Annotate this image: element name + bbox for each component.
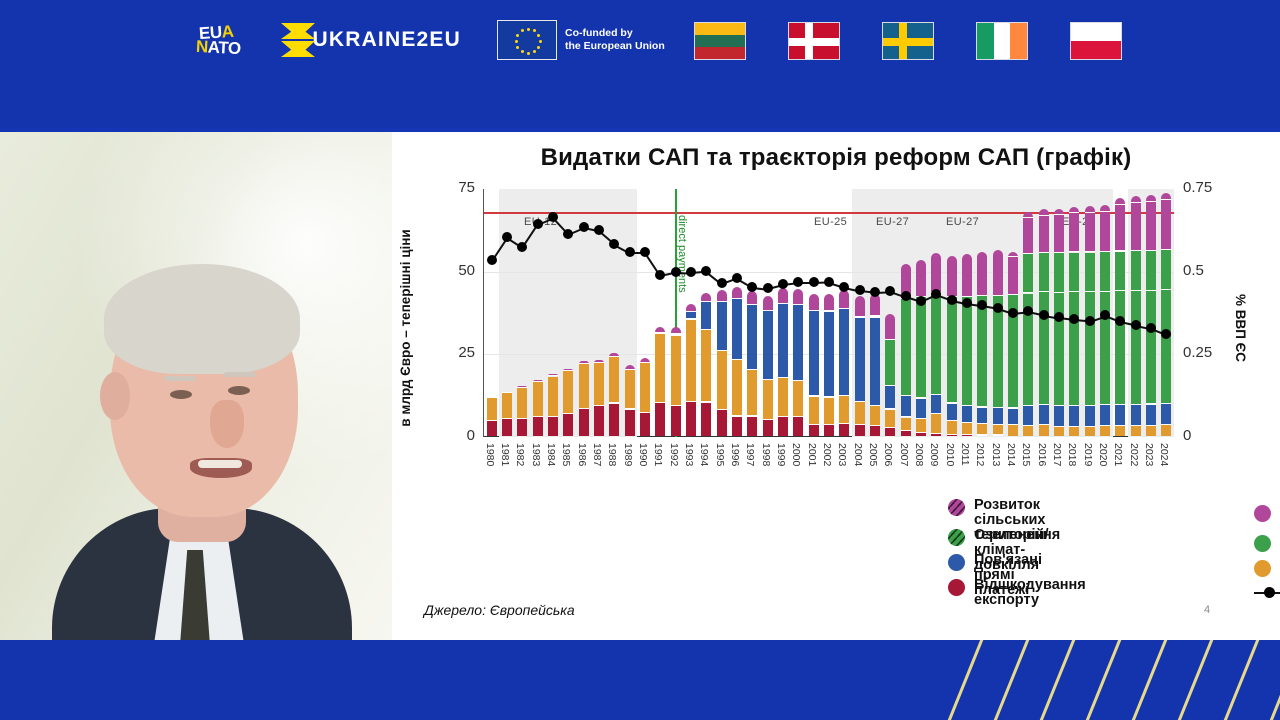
bar-segment (977, 408, 987, 425)
trajectory-point (1146, 323, 1156, 333)
chart-bar (1161, 193, 1171, 436)
speaker-video-feed[interactable] (0, 132, 392, 640)
bar-segment (1008, 425, 1018, 436)
bar-separator (671, 333, 681, 334)
bar-separator (885, 385, 895, 386)
trajectory-point (901, 291, 911, 301)
trajectory-point (1039, 310, 1049, 320)
trajectory-point (809, 277, 819, 287)
bar-separator (977, 434, 987, 435)
bar-segment (1100, 405, 1110, 426)
bar-segment (1069, 253, 1079, 293)
bar-separator (563, 370, 573, 371)
partner-flag-row (694, 22, 1122, 60)
bar-separator (931, 433, 941, 434)
bar-segment (778, 378, 788, 418)
bar-segment (793, 289, 803, 305)
bar-separator (502, 418, 512, 419)
chart-bar (931, 253, 941, 436)
bar-separator (1100, 291, 1110, 292)
bar-segment (655, 334, 665, 403)
trajectory-point (793, 277, 803, 287)
trajectory-point (747, 282, 757, 292)
trajectory-point (993, 303, 1003, 313)
bar-separator (824, 424, 834, 425)
bar-segment (1146, 405, 1156, 426)
bar-separator (1115, 404, 1125, 405)
bar-separator (901, 430, 911, 431)
trajectory-point (947, 295, 957, 305)
trajectory-point (870, 287, 880, 297)
chart-bar (1100, 205, 1110, 436)
bar-separator (1085, 291, 1095, 292)
bar-separator (655, 402, 665, 403)
bar-segment (916, 399, 926, 420)
bar-segment (1131, 426, 1141, 436)
bar-segment (1146, 251, 1156, 291)
bar-separator (1115, 290, 1125, 291)
y-axis-tick-left: 25 (429, 344, 475, 361)
bar-segment (1100, 292, 1110, 405)
x-axis-tick: 1994 (698, 443, 710, 466)
presentation-slide: Видатки САП та траєкторія реформ САП (гр… (392, 132, 1280, 640)
bar-segment (1039, 405, 1049, 425)
bar-separator (870, 425, 880, 426)
bar-separator (916, 432, 926, 433)
x-axis-tick: 2011 (959, 443, 971, 466)
bar-separator (533, 416, 543, 417)
bar-separator (1146, 403, 1156, 404)
y-axis-left-label: в млрд Євро – теперішні ціни (398, 228, 413, 428)
lithuania-flag (694, 22, 746, 60)
x-axis-tick: 1981 (499, 443, 511, 466)
bar-segment (1146, 202, 1156, 251)
bar-separator (793, 304, 803, 305)
bar-separator (931, 413, 941, 414)
bar-segment (717, 351, 727, 411)
ukraine2eu-mark-icon (281, 23, 303, 57)
bar-separator (824, 396, 834, 397)
bar-segment (747, 370, 757, 416)
bar-separator (778, 377, 788, 378)
bar-separator (1023, 425, 1033, 426)
bar-segment (655, 403, 665, 436)
bar-segment (809, 311, 819, 396)
plot-area: EU-12EU-25EU-27EU-27EU-28direct payments (483, 189, 1173, 437)
bar-segment (809, 294, 819, 311)
bar-segment (977, 296, 987, 407)
trajectory-point (1085, 316, 1095, 326)
banner-logo-row: EUA NATO UKRAINE2EU Co-funded by the Eur… (0, 8, 1280, 72)
trajectory-point (563, 229, 573, 239)
bar-separator (1161, 403, 1171, 404)
bar-segment (1085, 406, 1095, 427)
bar-segment (839, 309, 849, 397)
poland-flag (1070, 22, 1122, 60)
x-axis-tick: 1999 (775, 443, 787, 466)
chart-bar (1054, 209, 1064, 436)
bar-separator (1039, 424, 1049, 425)
x-axis-tick: 2017 (1051, 443, 1063, 466)
x-axis-tick: 1984 (545, 443, 557, 466)
bar-separator (885, 427, 895, 428)
bar-separator (947, 434, 957, 435)
bar-separator (839, 423, 849, 424)
chart-bar (1008, 252, 1018, 437)
chart-bar (487, 397, 497, 436)
bar-segment (931, 253, 941, 293)
bar-segment (1039, 253, 1049, 292)
bar-separator (855, 401, 865, 402)
bar-segment (548, 377, 558, 417)
bar-separator (901, 395, 911, 396)
x-axis-tick: 2001 (806, 443, 818, 466)
bar-segment (885, 340, 895, 386)
bar-segment (855, 318, 865, 402)
chart-bar (609, 353, 619, 436)
bar-segment (916, 260, 926, 296)
x-axis-tick: 1996 (729, 443, 741, 466)
bar-segment (1115, 291, 1125, 405)
chart-bar (579, 361, 589, 436)
bar-separator (732, 359, 742, 360)
decorative-stripe (1110, 640, 1180, 720)
bar-segment (1069, 292, 1079, 406)
bar-separator (1161, 424, 1171, 425)
decorative-stripe (926, 640, 996, 720)
bar-segment (947, 256, 957, 297)
bar-separator (1039, 215, 1049, 216)
bar-segment (701, 302, 711, 329)
legend-swatch-icon (948, 529, 965, 546)
bar-segment (962, 254, 972, 297)
bar-segment (931, 293, 941, 396)
bar-separator (732, 415, 742, 416)
x-axis-tick: 1991 (652, 443, 664, 466)
trajectory-point (1131, 320, 1141, 330)
y-axis-tick-right: 0.5 (1183, 262, 1231, 279)
bar-separator (1023, 253, 1033, 254)
trajectory-point (625, 247, 635, 257)
bar-segment (1069, 406, 1079, 427)
bar-separator (594, 362, 604, 363)
bar-separator (763, 379, 773, 380)
bar-separator (870, 315, 880, 316)
bar-separator (487, 420, 497, 421)
bar-segment (563, 414, 573, 436)
bar-separator (548, 416, 558, 417)
bar-separator (701, 329, 711, 330)
x-axis-tick: 2024 (1158, 443, 1170, 466)
decorative-stripe (1156, 640, 1226, 720)
bar-segment (1115, 205, 1125, 251)
chart-bar (1023, 212, 1033, 436)
bar-separator (487, 397, 497, 398)
bar-separator (1146, 250, 1156, 251)
bar-separator (962, 296, 972, 297)
ireland-flag (976, 22, 1028, 60)
bar-separator (1131, 250, 1141, 251)
bar-segment (993, 408, 1003, 425)
bar-separator (717, 301, 727, 302)
bar-separator (732, 298, 742, 299)
bar-segment (1100, 252, 1110, 292)
legend-item[interactable]: Відшкодування експорту (948, 578, 1086, 608)
bar-segment (1085, 253, 1095, 293)
chart-bar (1131, 196, 1141, 436)
bar-separator (640, 412, 650, 413)
bar-segment (916, 297, 926, 399)
x-axis-tick: 2016 (1036, 443, 1048, 466)
bar-separator (993, 295, 1003, 296)
bar-separator (947, 420, 957, 421)
chart-bar (947, 256, 957, 436)
trajectory-point (655, 270, 665, 280)
bar-separator (1039, 404, 1049, 405)
bar-segment (1115, 405, 1125, 426)
bar-separator (839, 395, 849, 396)
bar-segment (885, 314, 895, 340)
bar-segment (640, 363, 650, 413)
bar-segment (793, 417, 803, 436)
bar-separator (1008, 424, 1018, 425)
bar-segment (1085, 292, 1095, 406)
bar-segment (1069, 213, 1079, 252)
chart-bar (763, 296, 773, 436)
bar-segment (824, 425, 834, 436)
legend-item[interactable]: Озеленення (948, 528, 1060, 546)
x-axis-tick: 2020 (1097, 443, 1109, 466)
bar-separator (1085, 251, 1095, 252)
chart-bar (839, 290, 849, 436)
bar-segment (686, 320, 696, 403)
bar-segment (839, 396, 849, 423)
bar-separator (824, 310, 834, 311)
bar-separator (1039, 291, 1049, 292)
bar-segment (870, 318, 880, 406)
bar-segment (1039, 425, 1049, 436)
y-axis-tick-left: 75 (429, 179, 475, 196)
bar-segment (1054, 253, 1064, 293)
bar-segment (1023, 218, 1033, 254)
bar-separator (517, 387, 527, 388)
bar-segment (1069, 427, 1079, 436)
bar-separator (778, 416, 788, 417)
bar-segment (747, 305, 757, 370)
chart-bar (855, 296, 865, 436)
slide-title: Видатки САП та траєкторія реформ САП (гр… (392, 144, 1280, 172)
bar-segment (763, 296, 773, 311)
bar-segment (809, 397, 819, 425)
bar-separator (747, 415, 757, 416)
trajectory-point (732, 273, 742, 283)
bar-segment (855, 402, 865, 425)
chart-bar (962, 254, 972, 436)
chart-bar (594, 360, 604, 436)
bar-segment (824, 398, 834, 425)
bar-separator (502, 392, 512, 393)
trajectory-point (609, 239, 619, 249)
bar-segment (763, 380, 773, 420)
bar-segment (517, 388, 527, 419)
x-axis-tick: 2018 (1066, 443, 1078, 466)
legend-swatch-icon (948, 554, 965, 571)
bar-segment (1023, 406, 1033, 426)
eu-nato-logo-line2: NATO (195, 39, 240, 56)
x-axis-tick: 2019 (1082, 443, 1094, 466)
trajectory-point (855, 285, 865, 295)
bar-separator (1131, 425, 1141, 426)
chart-bar (533, 380, 543, 436)
chart-bar (563, 369, 573, 436)
decorative-stripe (1202, 640, 1272, 720)
chart-bar (517, 386, 527, 436)
enlargement-band-label: EU-27 (946, 216, 979, 228)
bar-separator (901, 416, 911, 417)
x-axis-tick: 1998 (760, 443, 772, 466)
bar-separator (809, 395, 819, 396)
bar-separator (1131, 290, 1141, 291)
x-axis-tick: 1993 (683, 443, 695, 466)
top-banner: EUA NATO UKRAINE2EU Co-funded by the Eur… (0, 0, 1280, 128)
bar-separator (1054, 426, 1064, 427)
bar-separator (548, 375, 558, 376)
bar-separator (1100, 425, 1110, 426)
bar-separator (1146, 425, 1156, 426)
x-axis-tick: 1987 (591, 443, 603, 466)
bar-separator (962, 405, 972, 406)
chart-bar (671, 327, 681, 436)
x-axis-tick: 2007 (898, 443, 910, 466)
bar-segment (594, 406, 604, 436)
bar-segment (993, 250, 1003, 296)
x-axis-tick: 1985 (560, 443, 572, 466)
bar-segment (625, 410, 635, 436)
chart-bar (747, 291, 757, 436)
bar-separator (609, 356, 619, 357)
bar-separator (1115, 250, 1125, 251)
bar-segment (732, 417, 742, 437)
x-axis-tick: 1997 (744, 443, 756, 466)
bar-separator (885, 408, 895, 409)
bar-separator (1100, 404, 1110, 405)
bar-separator (993, 434, 1003, 435)
bar-segment (931, 414, 941, 434)
x-axis-tick: 2006 (882, 443, 894, 466)
trajectory-point (579, 222, 589, 232)
trajectory-point (839, 282, 849, 292)
chart-legend: Розвиток сільських територій/клімат-довк… (392, 498, 1280, 608)
bar-segment (533, 382, 543, 417)
bar-separator (763, 419, 773, 420)
bar-separator (977, 423, 987, 424)
chart-bar (809, 294, 819, 436)
bar-separator (1008, 294, 1018, 295)
eu-cofunded-logo: Co-funded by the European Union (497, 8, 667, 72)
enlargement-band-label: EU-25 (814, 216, 847, 228)
bar-segment (901, 431, 911, 436)
x-axis-tick: 2015 (1020, 443, 1032, 466)
eu-flag-icon (497, 20, 557, 60)
chart-bar (1146, 195, 1156, 436)
bar-segment (594, 363, 604, 406)
bar-segment (517, 419, 527, 436)
decorative-stripe (972, 640, 1042, 720)
bar-separator (1069, 251, 1079, 252)
bar-segment (855, 425, 865, 436)
bar-segment (533, 417, 543, 436)
chart-bar (655, 327, 665, 436)
bar-segment (870, 426, 880, 436)
bar-segment (1146, 426, 1156, 436)
chart-bar (885, 314, 895, 436)
bar-segment (977, 252, 987, 297)
bar-separator (993, 407, 1003, 408)
eu-cofunded-line1: Co-funded by (565, 27, 665, 40)
bar-segment (1023, 426, 1033, 436)
chart-bar (625, 365, 635, 436)
bar-segment (640, 413, 650, 436)
bar-separator (1039, 252, 1049, 253)
bar-separator (1146, 290, 1156, 291)
bar-segment (1008, 409, 1018, 425)
bar-segment (1161, 290, 1171, 404)
bar-segment (1146, 291, 1156, 405)
bar-separator (793, 416, 803, 417)
bar-separator (563, 413, 573, 414)
trajectory-point (640, 247, 650, 257)
x-axis-tick: 2023 (1143, 443, 1155, 466)
bar-segment (502, 393, 512, 419)
bar-segment (625, 370, 635, 410)
y-axis-right-label: % ВВП ЄС (1233, 258, 1248, 398)
bar-separator (809, 310, 819, 311)
bar-separator (993, 424, 1003, 425)
bar-segment (839, 424, 849, 436)
bar-segment (931, 395, 941, 414)
bar-segment (1008, 257, 1018, 295)
bar-segment (1161, 404, 1171, 425)
bar-segment (885, 410, 895, 428)
bar-segment (962, 406, 972, 424)
bar-segment (962, 297, 972, 406)
bar-segment (502, 419, 512, 436)
bar-segment (885, 428, 895, 436)
bar-separator (1146, 201, 1156, 202)
x-axis-tick: 2013 (990, 443, 1002, 466)
bar-separator (1023, 217, 1033, 218)
denmark-flag (788, 22, 840, 60)
bar-separator (579, 408, 589, 409)
bar-segment (901, 299, 911, 396)
bar-separator (1054, 292, 1064, 293)
bar-segment (487, 421, 497, 436)
bar-segment (763, 311, 773, 380)
chart-bar (640, 358, 650, 436)
bar-separator (517, 418, 527, 419)
bar-segment (1054, 215, 1064, 253)
chart-bar (548, 374, 558, 436)
bar-segment (1023, 254, 1033, 293)
bar-separator (1100, 251, 1110, 252)
y-axis-tick-right: 0.75 (1183, 179, 1231, 196)
legend-item[interactable]: Частка САП в ВВП ЄС (1254, 584, 1280, 644)
bar-separator (717, 409, 727, 410)
legend-swatch-icon (1254, 560, 1271, 577)
bar-segment (947, 297, 957, 403)
bar-segment (1085, 427, 1095, 436)
x-axis-tick: 1982 (514, 443, 526, 466)
